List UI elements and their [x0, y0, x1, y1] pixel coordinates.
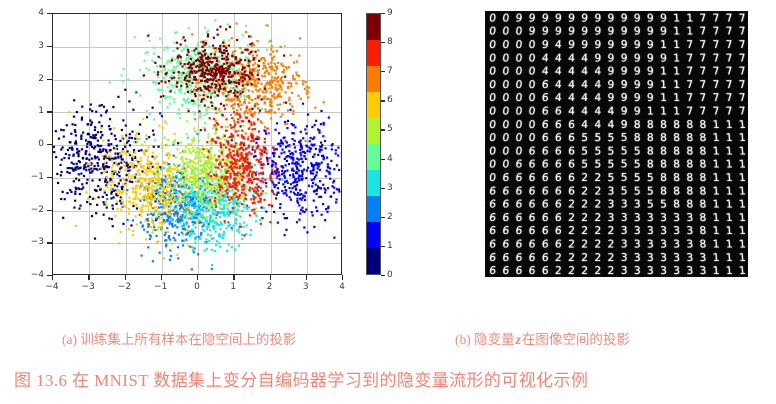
x-tick-label: 0 [194, 282, 200, 292]
colorbar-tick-mark [381, 13, 385, 14]
x-tick-mark [306, 275, 307, 280]
colorbar-tick-mark [381, 159, 385, 160]
x-tick-mark [270, 275, 271, 280]
colorbar-tick-label: 8 [387, 37, 393, 47]
x-tick-label: 1 [230, 282, 236, 292]
x-tick-label: −2 [118, 282, 131, 292]
y-tick-label: −2 [30, 205, 44, 215]
colorbar-tick-label: 3 [387, 183, 393, 193]
y-tick-label: −1 [30, 172, 44, 182]
y-tick-mark [47, 210, 52, 211]
figure-caption: 图 13.6 在 MNIST 数据集上变分自编码器学习到的隐变量流形的可视化示例 [14, 366, 588, 391]
colorbar-band-2 [367, 196, 380, 222]
y-tick-mark [47, 177, 52, 178]
x-tick-mark [342, 275, 343, 280]
x-tick-mark [197, 275, 198, 280]
x-tick-mark [233, 275, 234, 280]
latent-variable-symbol: z [515, 332, 522, 347]
colorbar-tick-label: 1 [387, 241, 393, 251]
panel-digit-manifold [485, 11, 748, 277]
x-tick-mark [161, 275, 162, 280]
digit-manifold-canvas [486, 12, 748, 277]
x-tick-label: −4 [45, 282, 58, 292]
colorbar-tick-mark [381, 71, 385, 72]
y-tick-label: 1 [30, 106, 44, 116]
colorbar-band-3 [367, 170, 380, 196]
subcaption-b-suffix: 在图像空间的投影 [522, 332, 630, 347]
colorbar-band-0 [367, 248, 380, 274]
colorbar-tick-label: 2 [387, 212, 393, 222]
colorbar-band-5 [367, 118, 380, 144]
colorbar-band-7 [367, 66, 380, 92]
y-tick-mark [47, 46, 52, 47]
colorbar-tick-label: 9 [387, 8, 393, 18]
y-tick-label: 3 [30, 41, 44, 51]
x-tick-label: 3 [303, 282, 309, 292]
colorbar-tick-mark [381, 275, 385, 276]
colorbar-band-8 [367, 40, 380, 66]
colorbar-tick-label: 5 [387, 124, 393, 134]
figure-page: −4−3−2−101234 −4−3−2−101234 0123456789 (… [0, 0, 776, 404]
scatter-plot-area [52, 13, 342, 275]
colorbar-gradient [366, 13, 381, 275]
y-tick-label: 0 [30, 139, 44, 149]
subcaption-b-prefix: (b) 隐变量 [455, 332, 515, 347]
panel-latent-scatter: −4−3−2−101234 −4−3−2−101234 0123456789 [0, 0, 470, 310]
colorbar-band-1 [367, 222, 380, 248]
y-tick-mark [47, 144, 52, 145]
colorbar-tick-mark [381, 246, 385, 247]
colorbar-tick-mark [381, 42, 385, 43]
y-tick-mark [47, 242, 52, 243]
colorbar-band-4 [367, 144, 380, 170]
colorbar-tick-mark [381, 188, 385, 189]
x-tick-mark [88, 275, 89, 280]
colorbar-tick-label: 6 [387, 95, 393, 105]
y-tick-label: −4 [30, 270, 44, 280]
scatter-points-canvas [53, 14, 342, 275]
y-tick-mark [47, 79, 52, 80]
colorbar-tick-mark [381, 129, 385, 130]
colorbar-tick-label: 0 [387, 270, 393, 280]
colorbar: 0123456789 [366, 13, 381, 275]
y-tick-label: 4 [30, 8, 44, 18]
y-tick-label: 2 [30, 74, 44, 84]
x-tick-mark [52, 275, 53, 280]
colorbar-band-9 [367, 14, 380, 40]
colorbar-tick-mark [381, 100, 385, 101]
y-tick-mark [47, 13, 52, 14]
colorbar-band-6 [367, 92, 380, 118]
subcaption-b: (b) 隐变量z在图像空间的投影 [455, 328, 630, 348]
subcaption-a: (a) 训练集上所有样本在隐空间上的投影 [62, 328, 296, 348]
x-tick-label: 2 [267, 282, 273, 292]
x-tick-label: −1 [154, 282, 167, 292]
y-tick-mark [47, 111, 52, 112]
y-tick-label: −3 [30, 237, 44, 247]
colorbar-tick-mark [381, 217, 385, 218]
colorbar-tick-label: 7 [387, 66, 393, 76]
x-tick-label: −3 [82, 282, 95, 292]
colorbar-tick-label: 4 [387, 154, 393, 164]
x-tick-mark [125, 275, 126, 280]
x-tick-label: 4 [339, 282, 345, 292]
